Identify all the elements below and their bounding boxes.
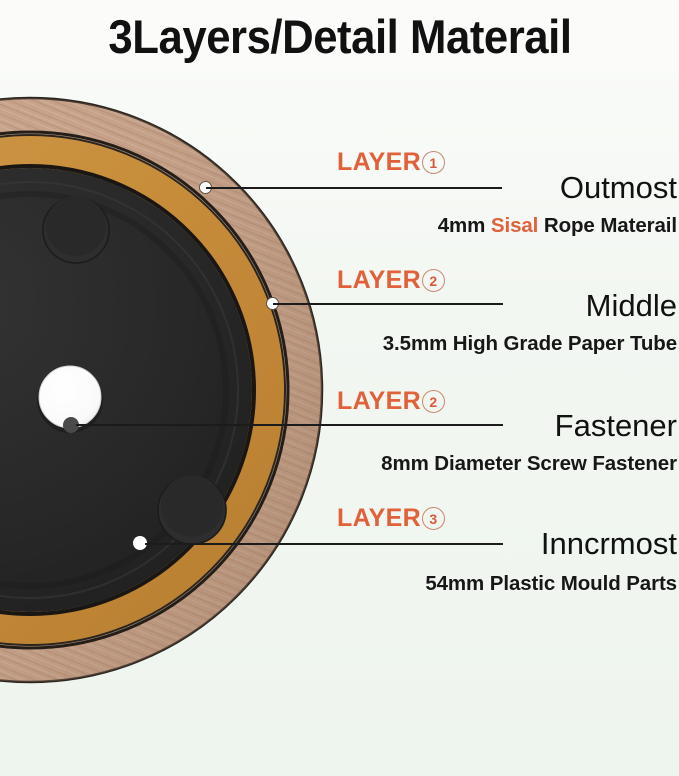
callout-desc-fastener: 8mm Diameter Screw Fastener [381, 452, 677, 475]
callout-heading-middle: Middle [330, 290, 677, 321]
callout-heading-inncrmost: Inncrmost [330, 528, 677, 559]
callout-desc-middle: 3.5mm High Grade Paper Tube [383, 332, 677, 355]
callout-heading-fastener: Fastener [330, 410, 677, 441]
callout-desc-inncrmost: 54mm Plastic Mould Parts [425, 572, 677, 595]
page-title: 3Layers/Detail Materail [108, 9, 571, 64]
circled-number-1: 1 [422, 151, 445, 174]
callout-desc-outmost: 4mm Sisal Rope Materail [438, 214, 677, 237]
infographic-page: 3Layers/Detail Materail [0, 0, 679, 776]
page-header: 3Layers/Detail Materail [0, 0, 679, 72]
callout-heading-outmost: Outmost [330, 172, 677, 203]
circled-number-3: 3 [422, 507, 445, 530]
circled-number-2: 2 [422, 269, 445, 292]
callout-group: LAYER 1 Outmost 4mm Sisal Rope Materail … [0, 0, 679, 776]
desc-highlight-sisal: Sisal [491, 214, 538, 237]
